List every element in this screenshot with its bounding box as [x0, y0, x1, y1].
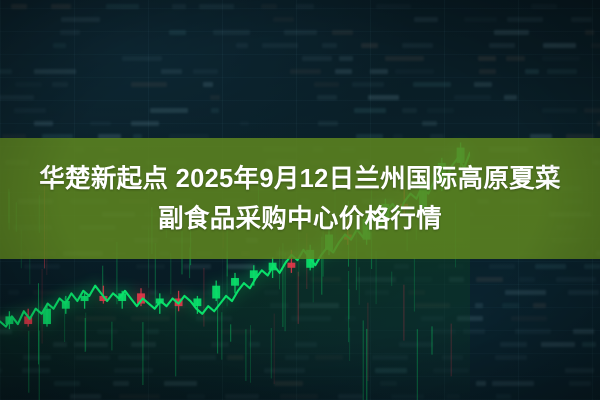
title-line-2: 副食品采购中心价格行情 [158, 200, 442, 238]
promo-banner-image: 华楚新起点 2025年9月12日兰州国际高原夏菜 副食品采购中心价格行情 [0, 0, 600, 400]
banner-title: 华楚新起点 2025年9月12日兰州国际高原夏菜 副食品采购中心价格行情 [0, 138, 600, 259]
title-line-1: 华楚新起点 2025年9月12日兰州国际高原夏菜 [39, 160, 561, 198]
